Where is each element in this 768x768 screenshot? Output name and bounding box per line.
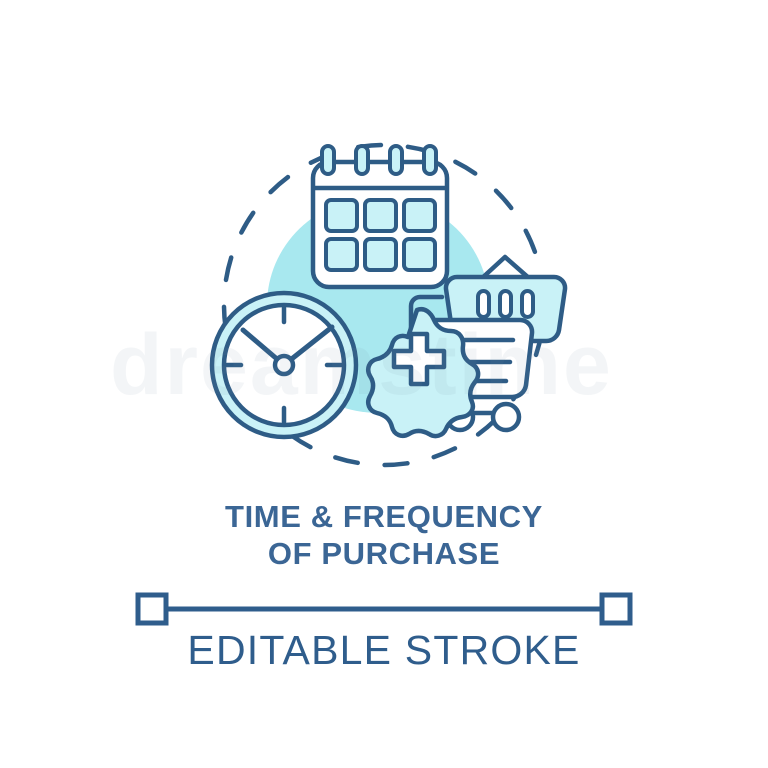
calendar-cell	[326, 200, 357, 231]
calendar-icon	[313, 146, 447, 287]
calendar-cell	[365, 200, 396, 231]
basket-slot	[478, 291, 489, 317]
stroke-handle-left[interactable]	[138, 595, 166, 623]
basket-slot	[500, 291, 511, 317]
page-title-line-2: OF PURCHASE	[0, 535, 768, 572]
calendar-cell	[326, 239, 357, 270]
calendar-ring	[322, 146, 334, 174]
calendar-ring	[390, 146, 402, 174]
calendar-cell	[404, 200, 435, 231]
calendar-ring	[424, 146, 436, 174]
page-title-line-1: TIME & FREQUENCY	[0, 498, 768, 535]
editable-stroke-label: EDITABLE STROKE	[0, 627, 768, 674]
editable-stroke-rule	[0, 586, 768, 632]
calendar-cell	[404, 239, 435, 270]
clock-center-pin	[275, 356, 293, 374]
calendar-cell	[365, 239, 396, 270]
illustration-canvas	[0, 0, 768, 500]
clock-icon	[212, 293, 356, 437]
concept-icon-page: dreamstime TIME & FREQUENCY OF PURCHASE …	[0, 0, 768, 768]
calendar-ring	[356, 146, 368, 174]
basket-slot	[522, 291, 533, 317]
stroke-handle-right[interactable]	[602, 595, 630, 623]
cart-wheel	[493, 404, 519, 430]
page-title: TIME & FREQUENCY OF PURCHASE	[0, 498, 768, 572]
